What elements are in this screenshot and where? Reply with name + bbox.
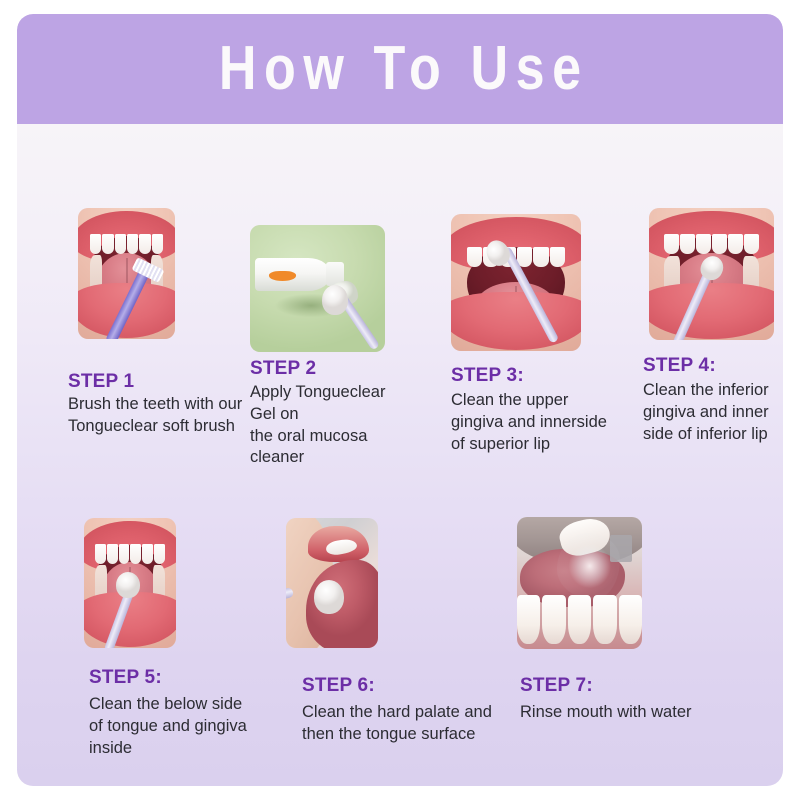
step-3-description: Clean the upper gingiva and innerside of… xyxy=(451,390,619,455)
step-4: STEP 4: Clean the inferior gingiva and i… xyxy=(624,194,783,484)
step-5: STEP 5: Clean the below side of tongue a… xyxy=(53,506,243,786)
step-7: STEP 7: Rinse mouth with water xyxy=(487,506,707,786)
step-4-title: STEP 4: xyxy=(643,356,716,375)
step-1-title: STEP 1 xyxy=(68,372,134,391)
step-3-title: STEP 3: xyxy=(451,366,524,385)
step-1: STEP 1 Brush the teeth with our Tonguecl… xyxy=(53,194,243,474)
step-1-image xyxy=(78,208,175,339)
rinsing-mouth-photo xyxy=(517,517,642,649)
step-5-image xyxy=(84,518,176,648)
step-2-title: STEP 2 xyxy=(250,359,316,378)
step-4-image xyxy=(649,208,774,340)
step-2: STEP 2 Apply Tongueclear Gel on the oral… xyxy=(233,194,428,484)
step-2-image xyxy=(250,225,385,352)
cleaning-hard-palate-photo xyxy=(286,518,378,648)
step-2-description: Apply Tongueclear Gel on the oral mucosa… xyxy=(250,382,415,469)
step-3: STEP 3: Clean the upper gingiva and inne… xyxy=(432,194,622,484)
step-6: STEP 6: Clean the hard palate and then t… xyxy=(269,506,479,786)
step-1-description: Brush the teeth with our Tongueclear sof… xyxy=(68,394,248,438)
step-7-image xyxy=(517,517,642,649)
step-3-image xyxy=(451,214,581,351)
poster-page: How To Use STEP 1 xyxy=(0,0,800,800)
page-title: How To Use xyxy=(78,14,721,124)
gel-tube-on-swab-photo xyxy=(250,225,385,352)
how-to-use-card: How To Use STEP 1 xyxy=(17,14,783,786)
step-5-title: STEP 5: xyxy=(89,668,162,687)
step-6-image xyxy=(286,518,378,648)
cleaning-under-tongue-photo xyxy=(84,518,176,648)
step-7-description: Rinse mouth with water xyxy=(520,702,720,724)
step-5-description: Clean the below side of tongue and gingi… xyxy=(89,694,247,759)
cleaning-upper-gingiva-photo xyxy=(451,214,581,351)
cleaning-inferior-gingiva-photo xyxy=(649,208,774,340)
header-banner: How To Use xyxy=(17,14,783,124)
mouth-with-toothbrush-photo xyxy=(78,208,175,339)
step-6-description: Clean the hard palate and then the tongu… xyxy=(302,702,502,746)
step-6-title: STEP 6: xyxy=(302,676,375,695)
step-7-title: STEP 7: xyxy=(520,676,593,695)
step-4-description: Clean the inferior gingiva and inner sid… xyxy=(643,380,783,445)
